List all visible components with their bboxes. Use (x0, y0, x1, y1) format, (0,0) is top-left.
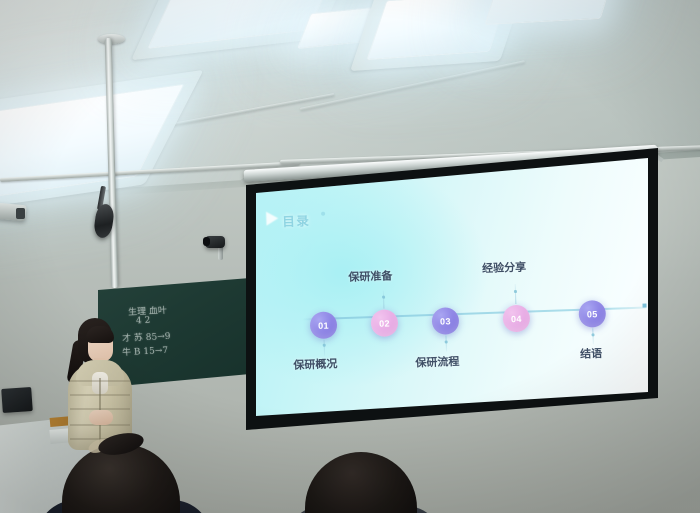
timeline-label-04: 经验分享 (482, 259, 527, 277)
title-accent-dot (321, 212, 325, 216)
node-stem-dot (382, 296, 385, 299)
jacket-quilt-line (70, 394, 130, 396)
node-stem-dot (591, 333, 594, 336)
timeline-end-marker (642, 303, 646, 307)
ceiling-light-panel (366, 0, 509, 60)
node-stem (383, 291, 385, 309)
timeline-label-01: 保研概况 (293, 355, 338, 373)
slide-content: 目录 01 保研概况 02 保研准备 03 保研流程 04 经验分享 05 结 (256, 140, 657, 418)
jacket-quilt-line (70, 380, 130, 382)
play-triangle-icon (266, 211, 278, 225)
lectern-monitor (1, 387, 33, 413)
node-stem-dot (514, 290, 517, 293)
presenter-hands (89, 410, 113, 425)
timeline-label-05: 结语 (580, 345, 603, 362)
wall-speaker-driver (16, 208, 25, 219)
timeline-label-03: 保研流程 (415, 353, 460, 371)
node-stem-dot (445, 340, 448, 343)
node-stem-dot (323, 344, 326, 347)
classroom-photo: 生理 血叶 4 2 才 苏 85→9 牛 B 15→7 目录 01 保研概况 0… (0, 0, 700, 513)
presenter-hair-front (86, 326, 114, 343)
slide-title: 目录 (282, 210, 311, 230)
camera-lens-icon (203, 237, 210, 246)
node-stem (515, 284, 517, 304)
wall-camera-mount (218, 246, 223, 260)
timeline-label-02: 保研准备 (348, 267, 393, 285)
